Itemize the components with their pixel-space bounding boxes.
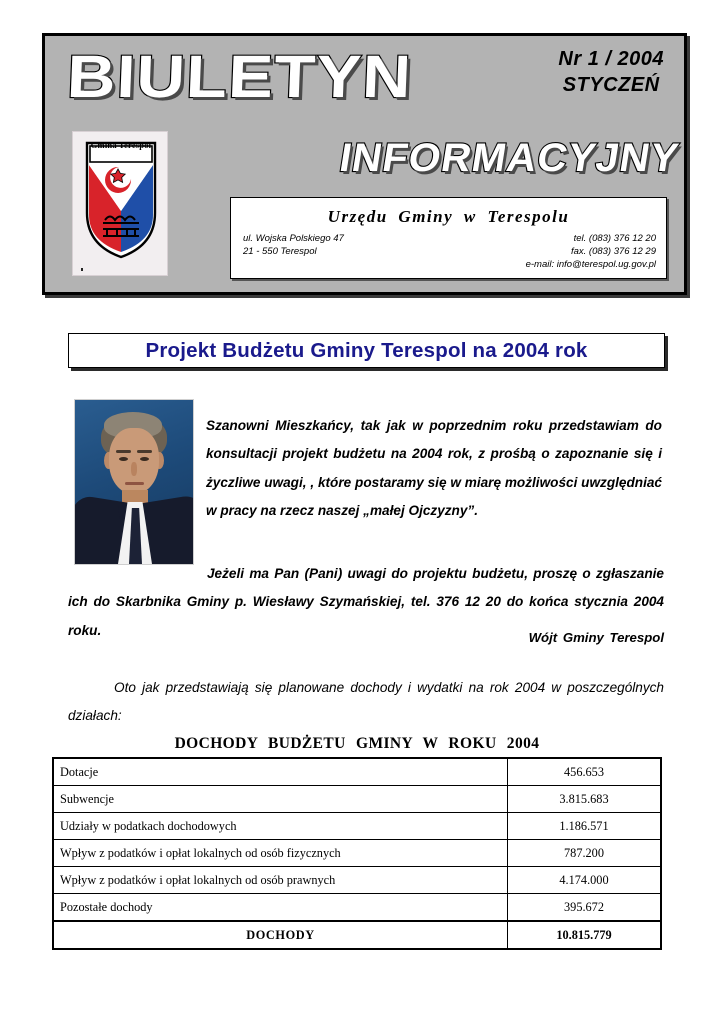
crest-corner-mark bbox=[81, 268, 83, 271]
publication-subtitle: INFORMACYJNY bbox=[336, 134, 682, 182]
coat-of-arms-label: Gmina Terespol bbox=[81, 140, 161, 150]
row-amount: 4.174.000 bbox=[508, 867, 662, 894]
issue-info: Nr 1 / 2004 STYCZEŃ bbox=[558, 46, 664, 98]
table-row: Pozostałe dochody 395.672 bbox=[53, 894, 661, 922]
portrait-brow-left bbox=[116, 450, 131, 453]
address-postal: 21 - 550 Terespol bbox=[243, 245, 344, 258]
contact-fax: fax. (083) 376 12 29 bbox=[526, 245, 656, 258]
row-label: Dotacje bbox=[53, 758, 508, 786]
article-headline-banner: Projekt Budżetu Gminy Terespol na 2004 r… bbox=[68, 333, 665, 368]
publication-title: BIULETYN bbox=[66, 42, 414, 112]
row-label: Wpływ z podatków i opłat lokalnych od os… bbox=[53, 840, 508, 867]
row-amount: 1.186.571 bbox=[508, 813, 662, 840]
row-label: Udziały w podatkach dochodowych bbox=[53, 813, 508, 840]
coat-of-arms: Gmina Terespol bbox=[72, 131, 168, 276]
budget-income-table: Dotacje 456.653 Subwencje 3.815.683 Udzi… bbox=[52, 757, 662, 950]
row-label: Pozostałe dochody bbox=[53, 894, 508, 922]
coat-of-arms-shield-icon bbox=[85, 141, 157, 259]
portrait-eye-left bbox=[119, 457, 128, 461]
letter-paragraph-3: Oto jak przedstawiają się planowane doch… bbox=[68, 674, 664, 731]
table-row: Wpływ z podatków i opłat lokalnych od os… bbox=[53, 840, 661, 867]
table-row: Subwencje 3.815.683 bbox=[53, 786, 661, 813]
table-row: Dotacje 456.653 bbox=[53, 758, 661, 786]
office-name: Urzędu Gminy w Terespolu bbox=[231, 207, 666, 227]
row-amount: 395.672 bbox=[508, 894, 662, 922]
budget-table-body: Dotacje 456.653 Subwencje 3.815.683 Udzi… bbox=[53, 758, 661, 949]
row-label: Subwencje bbox=[53, 786, 508, 813]
table-row: Udziały w podatkach dochodowych 1.186.57… bbox=[53, 813, 661, 840]
row-amount: 456.653 bbox=[508, 758, 662, 786]
office-address-card: Urzędu Gminy w Terespolu ul. Wojska Pols… bbox=[230, 197, 667, 279]
row-amount: 3.815.683 bbox=[508, 786, 662, 813]
contact-email: e-mail: info@terespol.ug.gov.pl bbox=[526, 258, 656, 271]
address-street: ul. Wojska Polskiego 47 bbox=[243, 232, 344, 245]
portrait-nose bbox=[131, 462, 137, 476]
mayor-portrait-photo bbox=[74, 399, 194, 565]
row-label: Wpływ z podatków i opłat lokalnych od os… bbox=[53, 867, 508, 894]
table-total-row: DOCHODY 10.815.779 bbox=[53, 921, 661, 949]
address-left-column: ul. Wojska Polskiego 47 21 - 550 Terespo… bbox=[243, 232, 344, 271]
table-row: Wpływ z podatków i opłat lokalnych od os… bbox=[53, 867, 661, 894]
address-right-column: tel. (083) 376 12 20 fax. (083) 376 12 2… bbox=[526, 232, 656, 271]
issue-number: Nr 1 / 2004 bbox=[558, 46, 664, 72]
portrait-mouth bbox=[125, 482, 144, 485]
letter-paragraph-1: Szanowni Mieszkańcy, tak jak w poprzedni… bbox=[206, 412, 662, 526]
letter-signature: Wójt Gminy Terespol bbox=[68, 630, 664, 645]
masthead-header: BIULETYN INFORMACYJNY Nr 1 / 2004 STYCZE… bbox=[42, 33, 687, 295]
total-amount: 10.815.779 bbox=[508, 921, 662, 949]
portrait-eye-right bbox=[140, 457, 149, 461]
row-amount: 787.200 bbox=[508, 840, 662, 867]
article-headline: Projekt Budżetu Gminy Terespol na 2004 r… bbox=[145, 339, 587, 363]
contact-tel: tel. (083) 376 12 20 bbox=[526, 232, 656, 245]
issue-month: STYCZEŃ bbox=[558, 72, 664, 98]
total-label: DOCHODY bbox=[53, 921, 508, 949]
budget-table-caption: DOCHODY BUDŻETU GMINY W ROKU 2004 bbox=[52, 735, 662, 753]
portrait-brow-right bbox=[137, 450, 152, 453]
